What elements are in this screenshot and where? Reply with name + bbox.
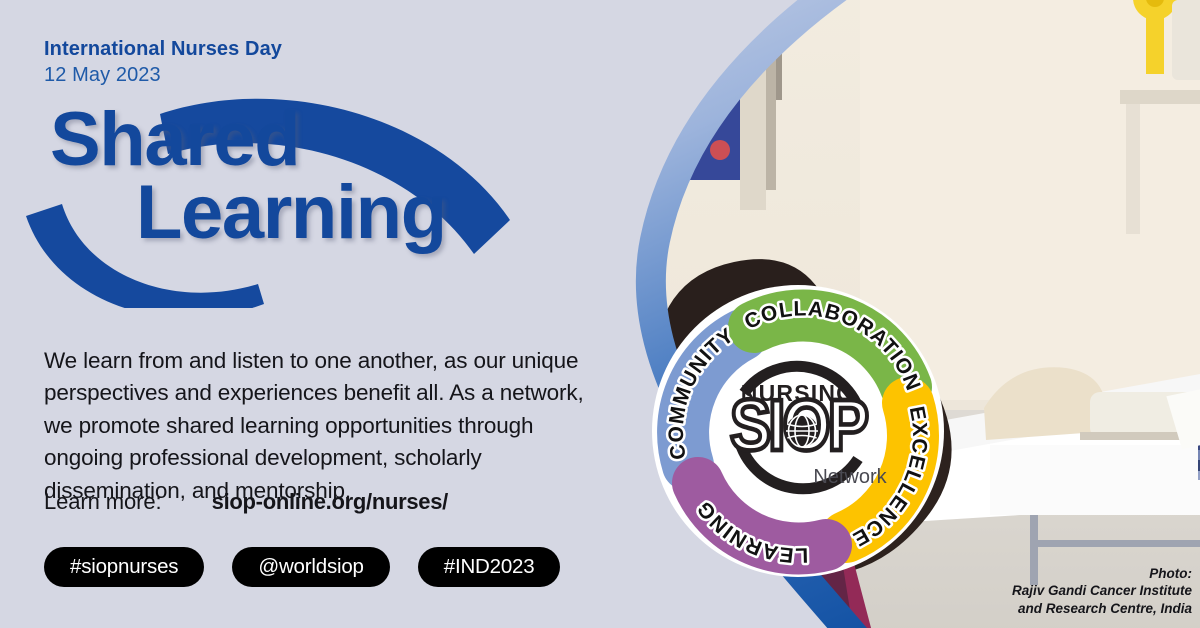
photo-credit-label: Photo: xyxy=(1012,565,1192,583)
photo-credit: Photo: Rajiv Gandi Cancer Institute and … xyxy=(1012,565,1192,618)
body-paragraph: We learn from and listen to one another,… xyxy=(44,345,584,508)
occasion-title: International Nurses Day xyxy=(44,38,282,62)
hashtag-worldsiop[interactable]: @worldsiop xyxy=(232,547,389,587)
hashtag-siopnurses[interactable]: #siopnurses xyxy=(44,547,204,587)
photo-credit-line-1: Rajiv Gandi Cancer Institute xyxy=(1012,582,1192,600)
occasion-date: 12 May 2023 xyxy=(44,64,282,88)
hashtag-row: #siopnurses @worldsiop #IND2023 xyxy=(44,547,560,587)
learn-more-row: Learn more: siop-online.org/nurses/ xyxy=(44,489,448,515)
poster-canvas: International Nurses Day 12 May 2023 Sha… xyxy=(0,0,1200,628)
text-column: International Nurses Day 12 May 2023 Sha… xyxy=(0,0,600,628)
globe-icon xyxy=(786,415,818,447)
photo-credit-line-2: and Research Centre, India xyxy=(1012,600,1192,618)
hashtag-ind2023[interactable]: #IND2023 xyxy=(418,547,561,587)
logo-word-network: Network xyxy=(813,466,887,488)
eyebrow-block: International Nurses Day 12 May 2023 xyxy=(44,38,282,87)
nursing-network-wheel: COMMUNITY COMMUNITY COLLABORATION COLLAB… xyxy=(650,283,946,579)
website-url[interactable]: siop-online.org/nurses/ xyxy=(212,489,448,514)
learn-more-label: Learn more: xyxy=(44,489,162,514)
headline-line-2: Learning xyxy=(50,177,570,250)
logo-siop-mark: SIOP xyxy=(730,386,867,466)
page-title: Shared Learning xyxy=(50,104,570,250)
